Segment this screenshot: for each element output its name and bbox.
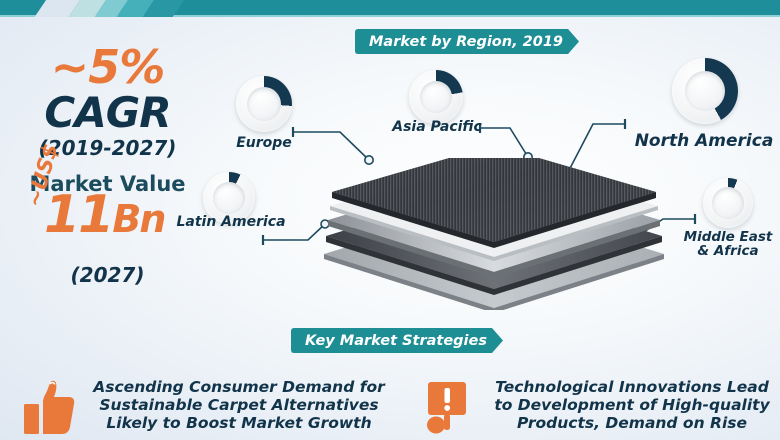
infographic-canvas: ~5% CAGR (2019-2027) Market Value ~US$ 1… bbox=[0, 0, 780, 440]
donut-label-middle-east-africa: Middle East & Africa bbox=[676, 230, 780, 258]
banner-market-by-region: Market by Region, 2019 bbox=[355, 29, 579, 54]
strategy-text-1: Ascending Consumer Demand for Sustainabl… bbox=[86, 378, 392, 432]
donut-asia-pacific bbox=[409, 70, 463, 124]
market-value-year: (2027) bbox=[0, 265, 215, 285]
donut-hole-middle-east-africa bbox=[712, 187, 744, 219]
donut-hole-latin-america bbox=[213, 182, 245, 214]
strategy-text-2: Technological Innovations Lead to Develo… bbox=[484, 378, 780, 432]
market-value-number: 11 bbox=[44, 185, 112, 245]
donut-middle-east-africa bbox=[703, 178, 753, 228]
strategy-block-1: Ascending Consumer Demand for Sustainabl… bbox=[24, 378, 392, 436]
market-value-unit: Bn bbox=[112, 197, 164, 241]
donut-label-asia-pacific: Asia Pacific bbox=[382, 120, 492, 135]
cagr-label: CAGR bbox=[0, 92, 215, 134]
strategy-block-2: Technological Innovations Lead to Develo… bbox=[422, 378, 780, 436]
donut-label-latin-america: Latin America bbox=[176, 215, 286, 230]
thumbs-up-icon bbox=[24, 378, 76, 436]
donut-hole-north-america bbox=[685, 71, 725, 111]
donut-hole-europe bbox=[247, 87, 281, 121]
banner-key-market-strategies: Key Market Strategies bbox=[291, 328, 503, 353]
donut-north-america bbox=[672, 58, 738, 124]
donut-label-north-america: North America bbox=[624, 133, 780, 151]
layered-carpet-graphic bbox=[318, 158, 670, 310]
donut-label-europe: Europe bbox=[216, 136, 312, 151]
top-teal-bar bbox=[0, 0, 780, 17]
cagr-period: (2019-2027) bbox=[0, 138, 215, 158]
donut-hole-asia-pacific bbox=[420, 81, 452, 113]
donut-europe bbox=[236, 76, 292, 132]
kpi-panel: ~5% CAGR (2019-2027) Market Value ~US$ 1… bbox=[0, 44, 215, 285]
cagr-value: ~5% bbox=[0, 44, 215, 90]
exclamation-sign-icon bbox=[422, 378, 474, 436]
